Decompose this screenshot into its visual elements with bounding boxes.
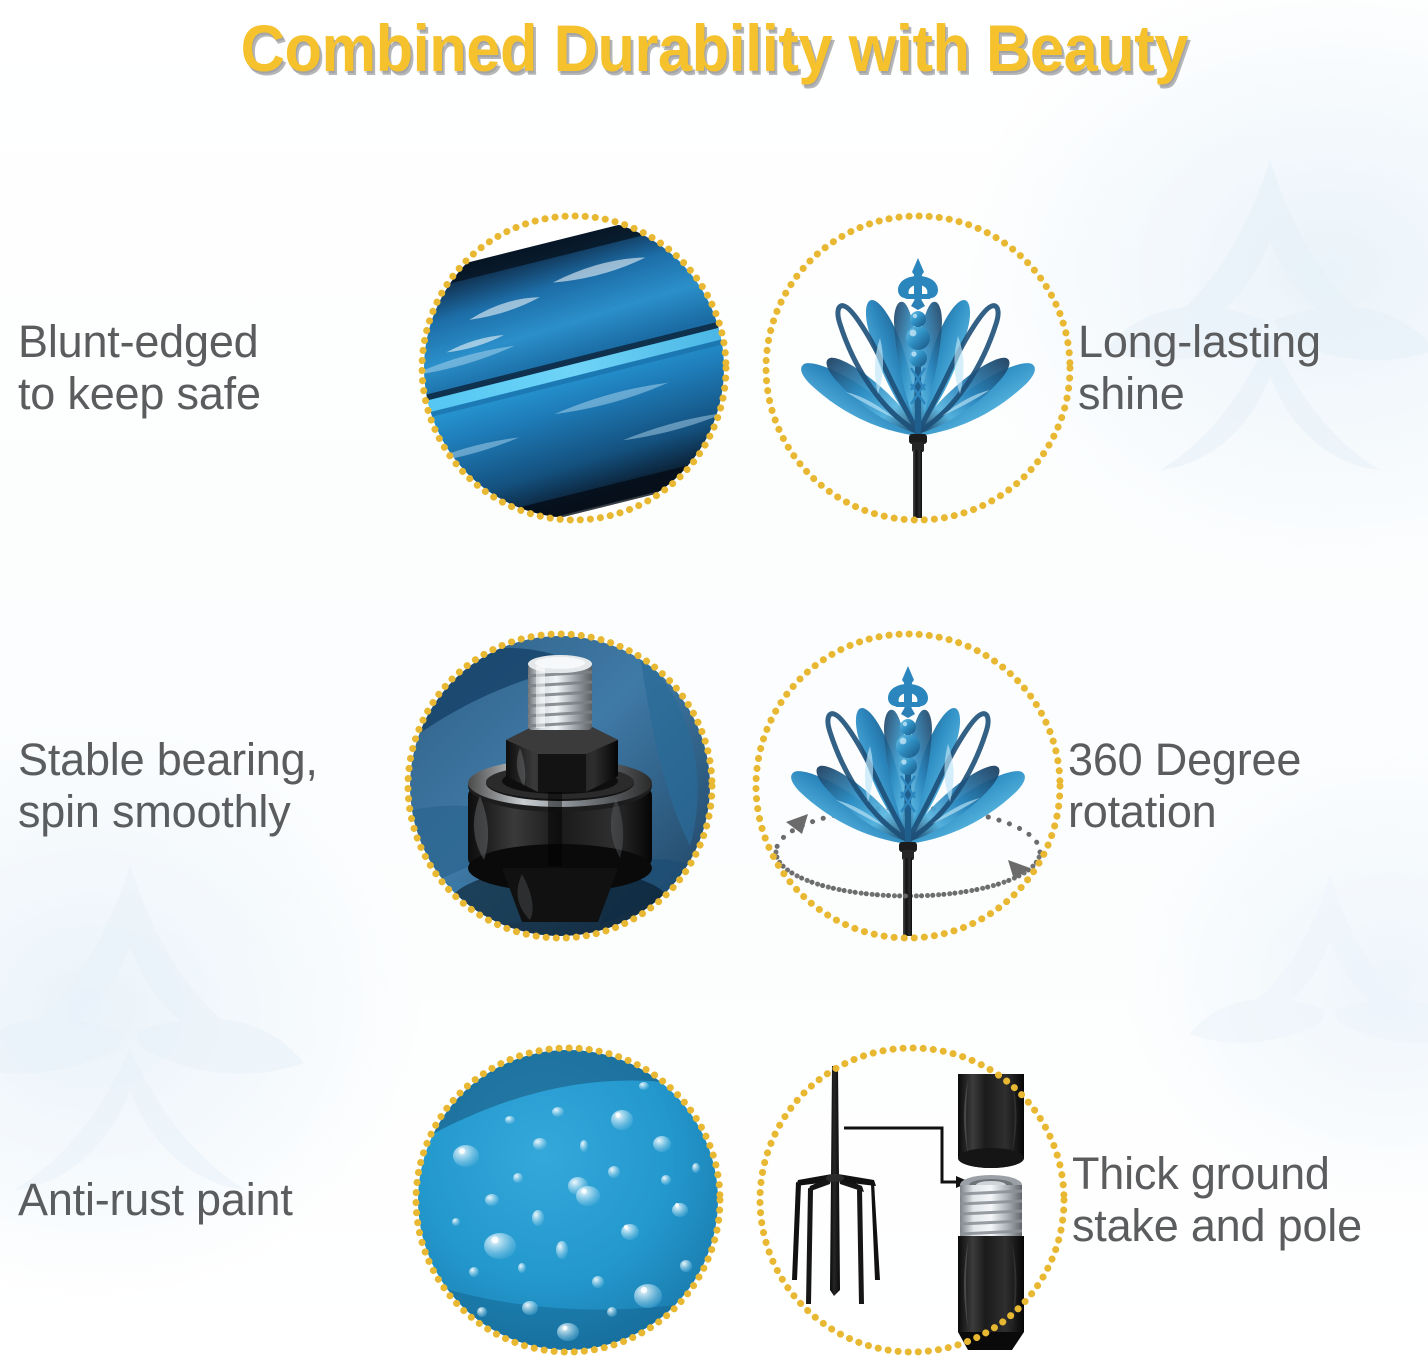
callout-line [844, 1128, 958, 1182]
feature-label-long-lasting-shine: Long-lasting shine [1068, 316, 1428, 420]
feature-cell-stake-and-pole: Thick ground stake and pole [718, 990, 1428, 1356]
feature-image-spinner-rotation-diagram [758, 636, 1058, 936]
feature-image-water-droplets-on-blue-paint [418, 1050, 718, 1350]
feature-label-stake-and-pole: Thick ground stake and pole [1062, 1148, 1422, 1252]
infographic-page: Combined Durability with Beauty Blunt-ed… [0, 0, 1428, 1356]
feature-image-blue-wind-spinner [768, 218, 1068, 518]
ground-stake [792, 1066, 880, 1304]
feature-cell-stable-bearing: Stable bearing, spin smoothly [0, 576, 714, 996]
feature-image-ground-stake-and-pole [762, 1050, 1062, 1350]
feature-row-2: Stable bearing, spin smoothly [0, 576, 1428, 996]
feature-row-1: Blunt-edged to keep safe [0, 158, 1428, 578]
pole-lower [958, 1175, 1024, 1350]
feature-row-3: Anti-rust paint [0, 990, 1428, 1356]
feature-image-blue-blade-edge-closeup [424, 218, 724, 518]
feature-cell-anti-rust-paint: Anti-rust paint [0, 990, 718, 1356]
feature-label-anti-rust-paint: Anti-rust paint [0, 1174, 360, 1226]
pole-upper [958, 1074, 1024, 1168]
feature-cell-360-rotation: 360 Degree rotation [714, 576, 1428, 996]
title-bar: Combined Durability with Beauty [0, 0, 1428, 96]
feature-image-bearing-bolt-closeup [410, 636, 710, 936]
feature-grid: Blunt-edged to keep safe [0, 100, 1428, 1356]
feature-cell-blunt-edged: Blunt-edged to keep safe [0, 158, 724, 578]
page-title: Combined Durability with Beauty [240, 15, 1187, 81]
feature-cell-long-lasting-shine: Long-lasting shine [724, 158, 1428, 578]
feature-label-blunt-edged: Blunt-edged to keep safe [0, 316, 360, 420]
feature-label-stable-bearing: Stable bearing, spin smoothly [0, 734, 360, 838]
rotation-arrow-left [786, 814, 808, 834]
feature-label-360-rotation: 360 Degree rotation [1058, 734, 1418, 838]
